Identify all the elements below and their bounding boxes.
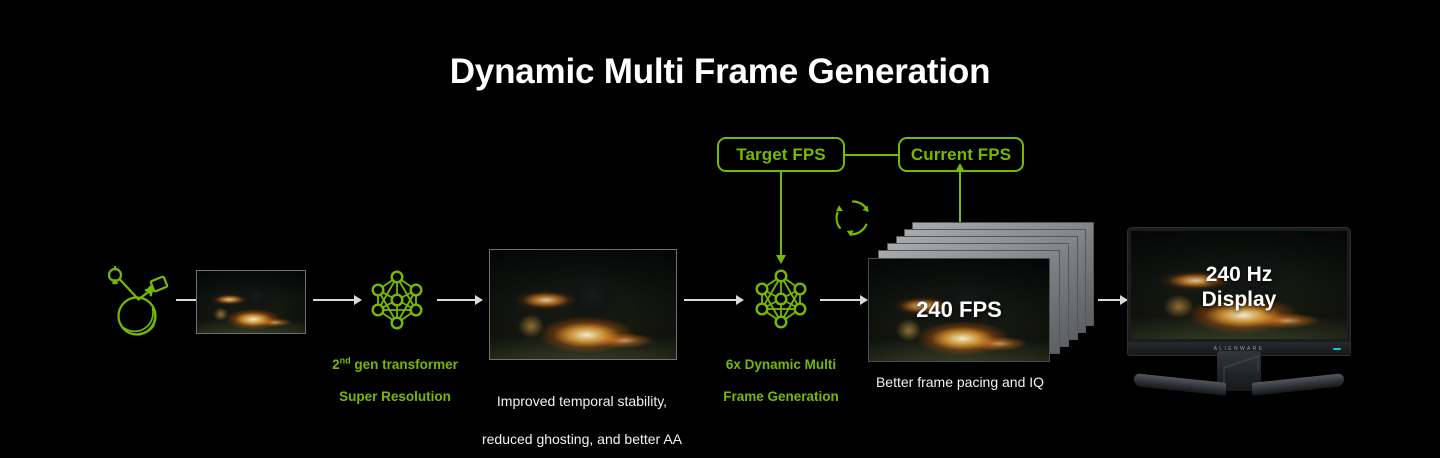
- connector-4: [684, 299, 742, 301]
- page-title: Dynamic Multi Frame Generation: [0, 50, 1440, 94]
- arrow-right-icon: [736, 295, 744, 305]
- arrow-right-icon: [475, 295, 483, 305]
- arrow-right-icon: [354, 295, 362, 305]
- arrow-right-icon: [860, 295, 868, 305]
- connector-target-to-dmfg: [780, 172, 782, 257]
- frame-pacing-caption: Better frame pacing and IQ: [860, 373, 1060, 392]
- generated-frame-stack: 240 FPS: [868, 222, 1096, 362]
- connector-frames-to-current: [959, 168, 961, 226]
- upscaled-frame-caption: Improved temporal stability, reduced gho…: [470, 373, 694, 449]
- connector-target-to-current: [845, 154, 898, 156]
- frame-generation-caption: 6x Dynamic Multi Frame Generation: [696, 341, 866, 405]
- arrow-up-icon: [955, 163, 965, 172]
- power-led-icon: [1333, 348, 1341, 350]
- monitor-foot-right: [1252, 373, 1344, 396]
- target-fps-box[interactable]: Target FPS: [717, 137, 845, 172]
- fg-caption-line2: Frame Generation: [723, 389, 839, 404]
- neural-network-icon: [750, 268, 812, 330]
- low-res-frame: [196, 270, 306, 334]
- connector-2: [313, 299, 360, 301]
- fg-caption-line1: 6x Dynamic Multi: [726, 357, 836, 372]
- upscaled-caption-line2: reduced ghosting, and better AA: [482, 431, 682, 447]
- monitor-foot-left: [1134, 373, 1226, 396]
- front-generated-frame: 240 FPS: [868, 258, 1050, 362]
- arrow-down-icon: [776, 255, 786, 264]
- monitor-bezel: 240 Hz Display ALIENWARE: [1128, 228, 1350, 355]
- display-label-line1: 240 Hz: [1206, 263, 1273, 286]
- sr-caption-line2: Super Resolution: [339, 389, 451, 404]
- display-label: 240 Hz Display: [1128, 262, 1350, 312]
- super-resolution-caption: 2nd gen transformer Super Resolution: [300, 341, 490, 405]
- display-monitor: 240 Hz Display ALIENWARE: [1128, 228, 1350, 410]
- fps-label: 240 FPS: [869, 297, 1049, 323]
- upscaled-caption-line1: Improved temporal stability,: [497, 393, 667, 409]
- slide-canvas: Dynamic Multi Frame Generation Target FP…: [0, 0, 1440, 458]
- neural-network-icon: [366, 269, 428, 331]
- upscaled-frame: [489, 249, 677, 360]
- ray-tracing-icon: [103, 266, 173, 338]
- arrow-right-icon: [1120, 295, 1128, 305]
- sr-caption-line1: 2nd gen transformer: [332, 357, 458, 372]
- display-label-line2: Display: [1202, 288, 1277, 311]
